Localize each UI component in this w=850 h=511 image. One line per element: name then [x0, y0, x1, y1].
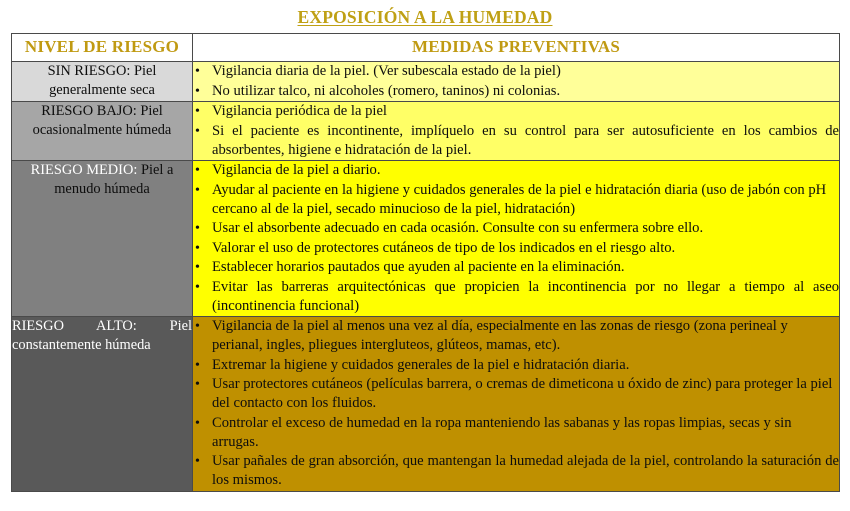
measures-cell-riesgo-bajo: • Vigilancia periódica de la piel • Si e…	[193, 102, 840, 161]
list-item: • Usar protectores cutáneos (películas b…	[193, 375, 839, 413]
bullet-icon: •	[195, 375, 206, 394]
measure-text: Usar pañales de gran absorción, que mant…	[212, 452, 839, 490]
measures-list-sin-riesgo: • Vigilancia diaria de la piel. (Ver sub…	[193, 62, 839, 101]
bullet-icon: •	[195, 181, 206, 200]
page-title: EXPOSICIÓN A LA HUMEDAD	[294, 7, 557, 28]
column-header-risk-level: NIVEL DE RIESGO	[12, 34, 193, 62]
list-item: • Valorar el uso de protectores cutáneos…	[193, 239, 839, 258]
measure-text: Establecer horarios pautados que ayuden …	[212, 258, 839, 277]
bullet-icon: •	[195, 161, 206, 180]
measure-text: Si el paciente es incontinente, implíque…	[212, 122, 839, 160]
bullet-icon: •	[195, 122, 206, 141]
moisture-exposure-table: NIVEL DE RIESGO MEDIDAS PREVENTIVAS SIN …	[11, 33, 840, 492]
bullet-icon: •	[195, 278, 206, 297]
risk-level-label-strong-riesgo-medio: RIESGO MEDIO:	[31, 162, 138, 178]
bullet-icon: •	[195, 102, 206, 121]
measure-text: Usar protectores cutáneos (películas bar…	[212, 375, 839, 413]
list-item: • Ayudar al paciente en la higiene y cui…	[193, 181, 839, 219]
measures-cell-riesgo-medio: • Vigilancia de la piel a diario. • Ayud…	[193, 161, 840, 317]
table-header-row: NIVEL DE RIESGO MEDIDAS PREVENTIVAS	[12, 34, 840, 62]
bullet-icon: •	[195, 356, 206, 375]
bullet-icon: •	[195, 414, 206, 433]
bullet-icon: •	[195, 82, 206, 101]
measure-text: No utilizar talco, ni alcoholes (romero,…	[212, 82, 839, 101]
risk-level-cell-riesgo-bajo: RIESGO BAJO: Piel ocasionalmente húmeda	[12, 102, 193, 161]
risk-level-label-rest-riesgo-alto: Piel	[137, 318, 192, 334]
bullet-icon: •	[195, 62, 206, 81]
risk-level-cell-riesgo-alto: RIESGO ALTO: Piel constantemente húmeda	[12, 317, 193, 492]
measure-text: Evitar las barreras arquitectónicas que …	[212, 278, 839, 316]
bullet-icon: •	[195, 452, 206, 471]
risk-level-label-strong-riesgo-alto: RIESGO ALTO:	[12, 318, 137, 334]
list-item: • Evitar las barreras arquitectónicas qu…	[193, 278, 839, 316]
table-row: RIESGO MEDIO: Piel a menudo húmeda • Vig…	[12, 161, 840, 317]
list-item: • Vigilancia de la piel al menos una vez…	[193, 317, 839, 355]
measures-list-riesgo-medio: • Vigilancia de la piel a diario. • Ayud…	[193, 161, 839, 316]
list-item: • Usar el absorbente adecuado en cada oc…	[193, 219, 839, 238]
measure-text: Extremar la higiene y cuidados generales…	[212, 356, 839, 375]
column-header-preventive-measures-label: MEDIDAS PREVENTIVAS	[193, 34, 839, 59]
bullet-icon: •	[195, 239, 206, 258]
bullet-icon: •	[195, 219, 206, 238]
column-header-risk-level-label: NIVEL DE RIESGO	[12, 34, 192, 59]
list-item: • Controlar el exceso de humedad en la r…	[193, 414, 839, 452]
list-item: • Si el paciente es incontinente, implíq…	[193, 122, 839, 160]
measures-cell-riesgo-alto: • Vigilancia de la piel al menos una vez…	[193, 317, 840, 492]
measure-text: Vigilancia diaria de la piel. (Ver subes…	[212, 62, 839, 81]
list-item: • Vigilancia diaria de la piel. (Ver sub…	[193, 62, 839, 81]
measures-cell-sin-riesgo: • Vigilancia diaria de la piel. (Ver sub…	[193, 62, 840, 102]
table-row: RIESGO ALTO: Piel constantemente húmeda …	[12, 317, 840, 492]
risk-level-label-tail-riesgo-alto: constantemente húmeda	[12, 336, 192, 355]
risk-level-cell-sin-riesgo: SIN RIESGO: Piel generalmente seca	[12, 62, 193, 102]
risk-level-label-sin-riesgo: SIN RIESGO: Piel generalmente seca	[48, 63, 157, 98]
bullet-icon: •	[195, 258, 206, 277]
column-header-preventive-measures: MEDIDAS PREVENTIVAS	[193, 34, 840, 62]
measures-list-riesgo-bajo: • Vigilancia periódica de la piel • Si e…	[193, 102, 839, 160]
measure-text: Vigilancia periódica de la piel	[212, 102, 839, 121]
list-item: • Extremar la higiene y cuidados general…	[193, 356, 839, 375]
measure-text: Vigilancia de la piel al menos una vez a…	[212, 317, 839, 355]
measure-text: Valorar el uso de protectores cutáneos d…	[212, 239, 839, 258]
measure-text: Ayudar al paciente en la higiene y cuida…	[212, 181, 839, 219]
list-item: • Establecer horarios pautados que ayude…	[193, 258, 839, 277]
table-row: RIESGO BAJO: Piel ocasionalmente húmeda …	[12, 102, 840, 161]
measures-list-riesgo-alto: • Vigilancia de la piel al menos una vez…	[193, 317, 839, 490]
document-page: EXPOSICIÓN A LA HUMEDAD NIVEL DE RIESGO …	[0, 0, 850, 511]
list-item: • Usar pañales de gran absorción, que ma…	[193, 452, 839, 490]
risk-level-label-riesgo-bajo: RIESGO BAJO: Piel ocasionalmente húmeda	[33, 103, 172, 138]
measure-text: Vigilancia de la piel a diario.	[212, 161, 839, 180]
measure-text: Usar el absorbente adecuado en cada ocas…	[212, 219, 839, 238]
measure-text: Controlar el exceso de humedad en la rop…	[212, 414, 839, 452]
document-title-container: EXPOSICIÓN A LA HUMEDAD	[0, 0, 850, 33]
risk-table-container: NIVEL DE RIESGO MEDIDAS PREVENTIVAS SIN …	[11, 33, 839, 492]
risk-level-cell-riesgo-medio: RIESGO MEDIO: Piel a menudo húmeda	[12, 161, 193, 317]
list-item: • Vigilancia de la piel a diario.	[193, 161, 839, 180]
bullet-icon: •	[195, 317, 206, 336]
list-item: • No utilizar talco, ni alcoholes (romer…	[193, 82, 839, 101]
list-item: • Vigilancia periódica de la piel	[193, 102, 839, 121]
table-row: SIN RIESGO: Piel generalmente seca • Vig…	[12, 62, 840, 102]
